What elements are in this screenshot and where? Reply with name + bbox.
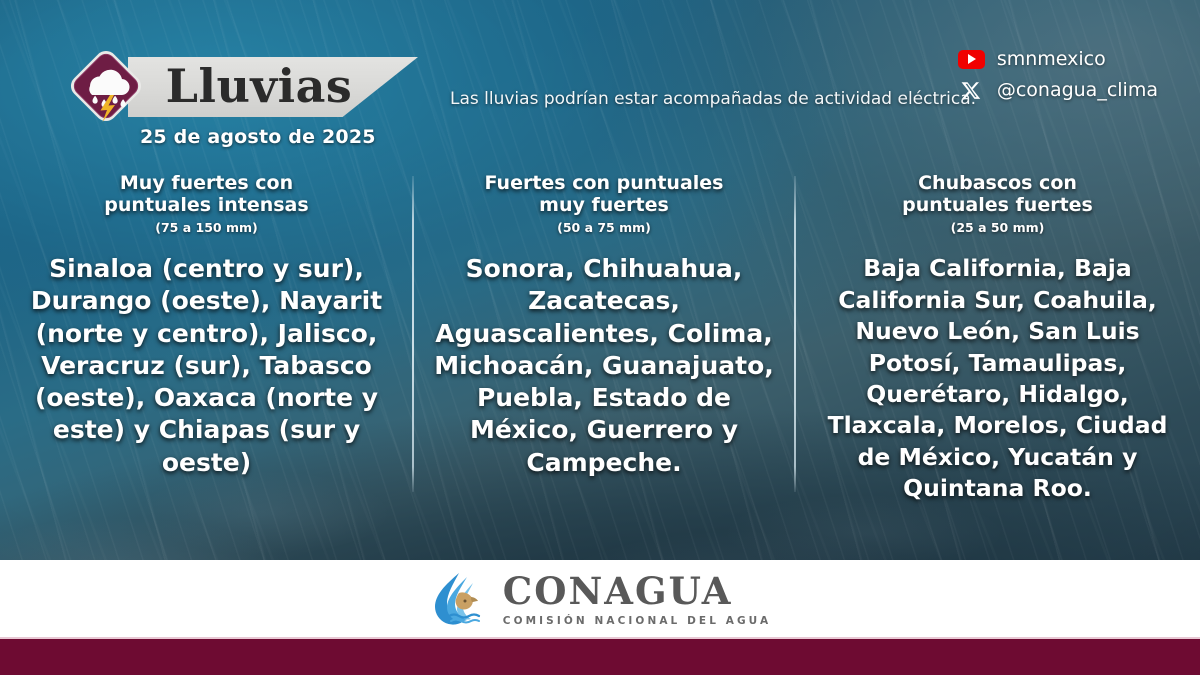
social-links: smnmexico @conagua_clima [958,48,1158,101]
category-heading: Fuertes con puntuales muy fuertes [431,172,777,216]
conagua-logo-tagline: COMISIÓN NACIONAL DEL AGUA [503,616,771,627]
youtube-link[interactable]: smnmexico [958,48,1106,70]
rain-category-column: Fuertes con puntuales muy fuertes (50 a … [413,172,795,552]
x-handle: @conagua_clima [997,79,1158,101]
rain-cloud-lightning-icon [64,44,148,128]
conagua-logo-name: CONAGUA [503,573,771,610]
rain-categories: Muy fuertes con puntuales intensas (75 a… [0,172,1200,552]
youtube-icon [958,50,985,69]
conagua-logo: CONAGUA COMISIÓN NACIONAL DEL AGUA [429,571,771,629]
rain-category-column: Muy fuertes con puntuales intensas (75 a… [0,172,413,552]
subtitle-text: Las lluvias podrían estar acompañadas de… [450,89,976,109]
category-heading: Muy fuertes con puntuales intensas [18,172,395,216]
x-twitter-icon [958,79,985,101]
date-label: 25 de agosto de 2025 [140,126,376,148]
category-states: Sonora, Chihuahua, Zacatecas, Aguascalie… [431,253,777,479]
youtube-handle: smnmexico [997,48,1106,70]
category-range: (50 a 75 mm) [431,220,777,235]
x-link[interactable]: @conagua_clima [958,79,1158,101]
category-states: Baja California, Baja California Sur, Co… [813,253,1182,505]
category-heading: Chubascos con puntuales fuertes [813,172,1182,216]
category-range: (75 a 150 mm) [18,220,395,235]
page-title: Lluvias [128,50,390,122]
category-range: (25 a 50 mm) [813,220,1182,235]
footer-bottom-bar [0,639,1200,675]
infographic-root: Lluvias 25 de agosto de 2025 Las lluvias… [0,0,1200,675]
category-states: Sinaloa (centro y sur), Durango (oeste),… [18,253,395,479]
footer-logo-band: CONAGUA COMISIÓN NACIONAL DEL AGUA [0,560,1200,639]
rain-category-column: Chubascos con puntuales fuertes (25 a 50… [795,172,1200,552]
conagua-water-eagle-logo [429,571,489,629]
